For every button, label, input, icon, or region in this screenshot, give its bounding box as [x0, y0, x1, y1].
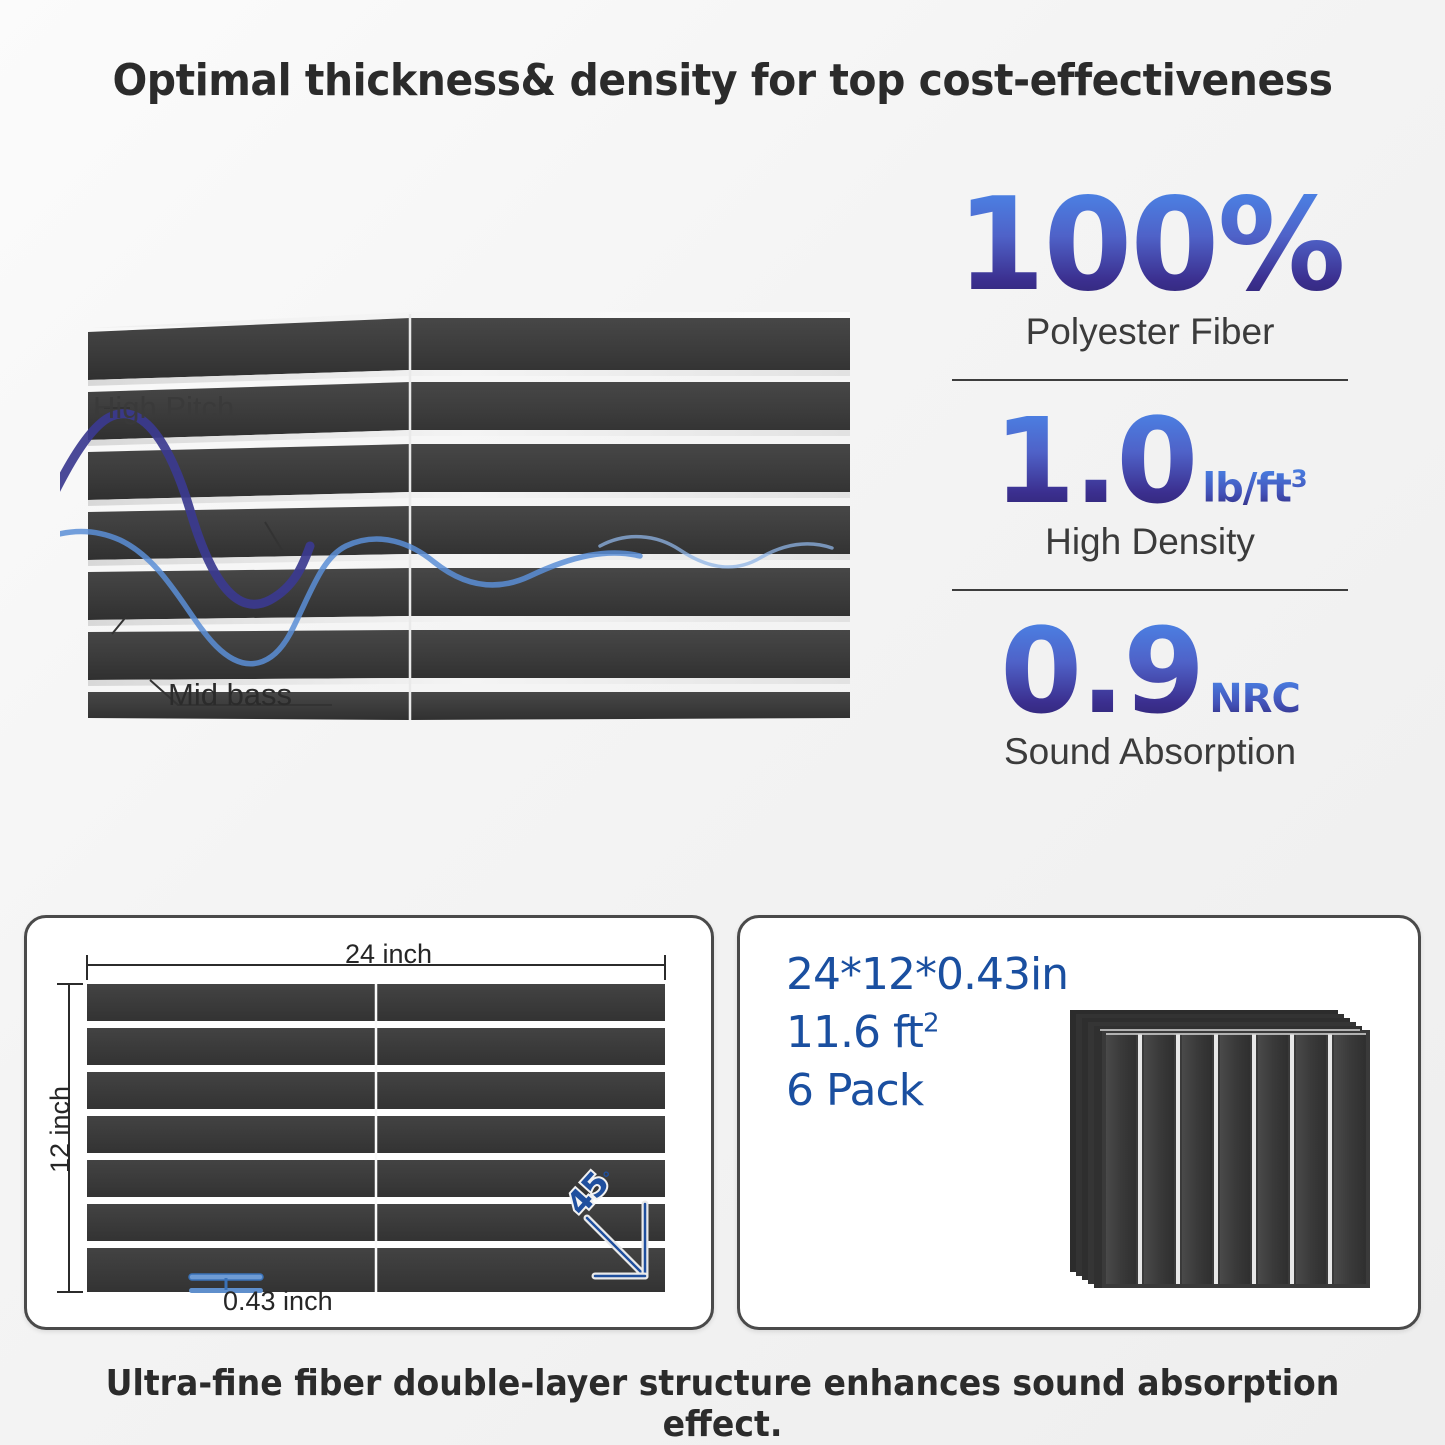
stat-sound-absorption: 0.9 NRC Sound Absorption [940, 615, 1360, 773]
stat-divider-1 [952, 379, 1348, 381]
stat-value-density: 1.0 [993, 405, 1196, 517]
stat-unit-nrc: NRC [1209, 676, 1300, 722]
footer-caption: Ultra-fine fiber double-layer structure … [58, 1363, 1387, 1445]
spec-card: 24*12*0.43in 11.6 ft2 6 Pack [737, 915, 1421, 1330]
label-high-pitch: High Pitch [93, 390, 234, 426]
spec-area: 11.6 ft2 [786, 1004, 1068, 1062]
acoustic-panel-illustration: High Pitch Mid bass [60, 300, 850, 720]
stacked-panels-image [1062, 996, 1392, 1296]
spec-text-block: 24*12*0.43in 11.6 ft2 6 Pack [786, 946, 1068, 1120]
stats-panel: 100% Polyester Fiber 1.0 lb/ft3 High Den… [940, 185, 1360, 773]
stat-value-polyester: 100% [956, 185, 1343, 307]
stat-high-density: 1.0 lb/ft3 High Density [940, 405, 1360, 563]
stat-value-nrc: 0.9 [1000, 615, 1203, 727]
dimension-height-label: 12 inch [45, 1086, 76, 1173]
dimensions-card: 45° 24 inch 12 inch 0.43 inch [24, 915, 714, 1330]
label-mid-bass: Mid bass [168, 677, 292, 713]
dimension-thickness-label: 0.43 inch [223, 1286, 333, 1317]
stat-unit-density: lb/ft3 [1202, 465, 1306, 511]
stat-divider-2 [952, 589, 1348, 591]
spec-pack: 6 Pack [786, 1062, 1068, 1120]
stat-polyester-fiber: 100% Polyester Fiber [940, 185, 1360, 353]
spec-size: 24*12*0.43in [786, 946, 1068, 1004]
stat-caption-nrc: Sound Absorption [940, 731, 1360, 773]
page-title: Optimal thickness& density for top cost-… [51, 55, 1395, 106]
dimension-width-label: 24 inch [345, 939, 432, 970]
